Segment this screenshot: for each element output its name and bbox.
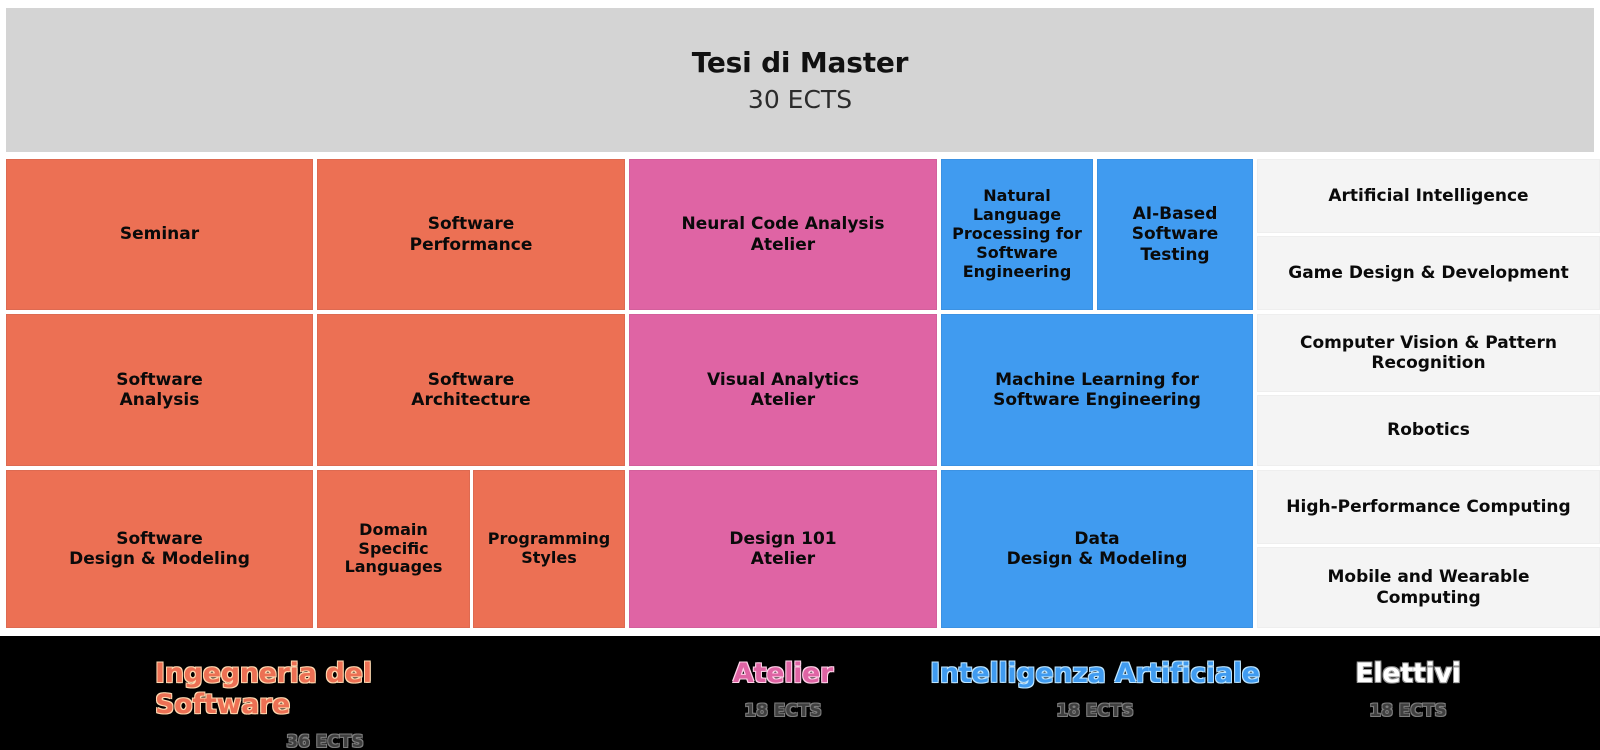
legend-item-electives[interactable]: Elettivi 18 ECTS [1268,658,1548,721]
legend-label-software-engineering: Ingegneria del Software [155,658,495,720]
course-software-architecture[interactable]: Software Architecture [317,314,625,466]
course-software-analysis[interactable]: Software Analysis [6,314,313,466]
elective-mobile-wearable-computing[interactable]: Mobile and Wearable Computing [1257,547,1600,628]
course-ai-based-software-testing[interactable]: AI-Based Software Testing [1097,159,1253,310]
course-grid: Seminar Software Performance Neural Code… [0,157,1600,632]
course-visual-analytics-atelier[interactable]: Visual Analytics Atelier [629,314,937,466]
legend-ects-atelier: 18 ECTS [744,701,822,721]
course-design-101-atelier[interactable]: Design 101 Atelier [629,470,937,628]
legend-item-artificial-intelligence[interactable]: Intelligenza Artificiale 18 ECTS [925,658,1265,721]
legend-ects-software-engineering: 36 ECTS [286,732,364,750]
legend-item-software-engineering[interactable]: Ingegneria del Software 36 ECTS [155,658,495,750]
legend-label-electives: Elettivi [1355,658,1461,689]
course-software-design-modeling[interactable]: Software Design & Modeling [6,470,313,628]
legend-label-artificial-intelligence: Intelligenza Artificiale [930,658,1260,689]
elective-computer-vision-pattern-recognition[interactable]: Computer Vision & Pattern Recognition [1257,314,1600,392]
elective-game-design-development[interactable]: Game Design & Development [1257,236,1600,310]
legend-label-atelier: Atelier [733,658,833,689]
curriculum-diagram: Tesi di Master 30 ECTS Seminar Software … [0,0,1600,750]
legend-item-atelier[interactable]: Atelier 18 ECTS [643,658,923,721]
course-programming-styles[interactable]: Programming Styles [473,470,625,628]
course-neural-code-analysis-atelier[interactable]: Neural Code Analysis Atelier [629,159,937,310]
course-seminar[interactable]: Seminar [6,159,313,310]
thesis-title: Tesi di Master [692,46,909,79]
course-data-design-modeling[interactable]: Data Design & Modeling [941,470,1253,628]
elective-artificial-intelligence[interactable]: Artificial Intelligence [1257,159,1600,233]
course-nlp-for-software-engineering[interactable]: Natural Language Processing for Software… [941,159,1093,310]
thesis-ects: 30 ECTS [748,85,852,114]
legend-bar: Ingegneria del Software 36 ECTS Atelier … [0,636,1600,750]
elective-high-performance-computing[interactable]: High-Performance Computing [1257,470,1600,544]
legend-ects-artificial-intelligence: 18 ECTS [1056,701,1134,721]
course-domain-specific-languages[interactable]: Domain Specific Languages [317,470,470,628]
course-machine-learning-for-software-engineering[interactable]: Machine Learning for Software Engineerin… [941,314,1253,466]
thesis-block[interactable]: Tesi di Master 30 ECTS [6,8,1594,152]
legend-ects-electives: 18 ECTS [1369,701,1447,721]
course-software-performance[interactable]: Software Performance [317,159,625,310]
elective-robotics[interactable]: Robotics [1257,395,1600,466]
